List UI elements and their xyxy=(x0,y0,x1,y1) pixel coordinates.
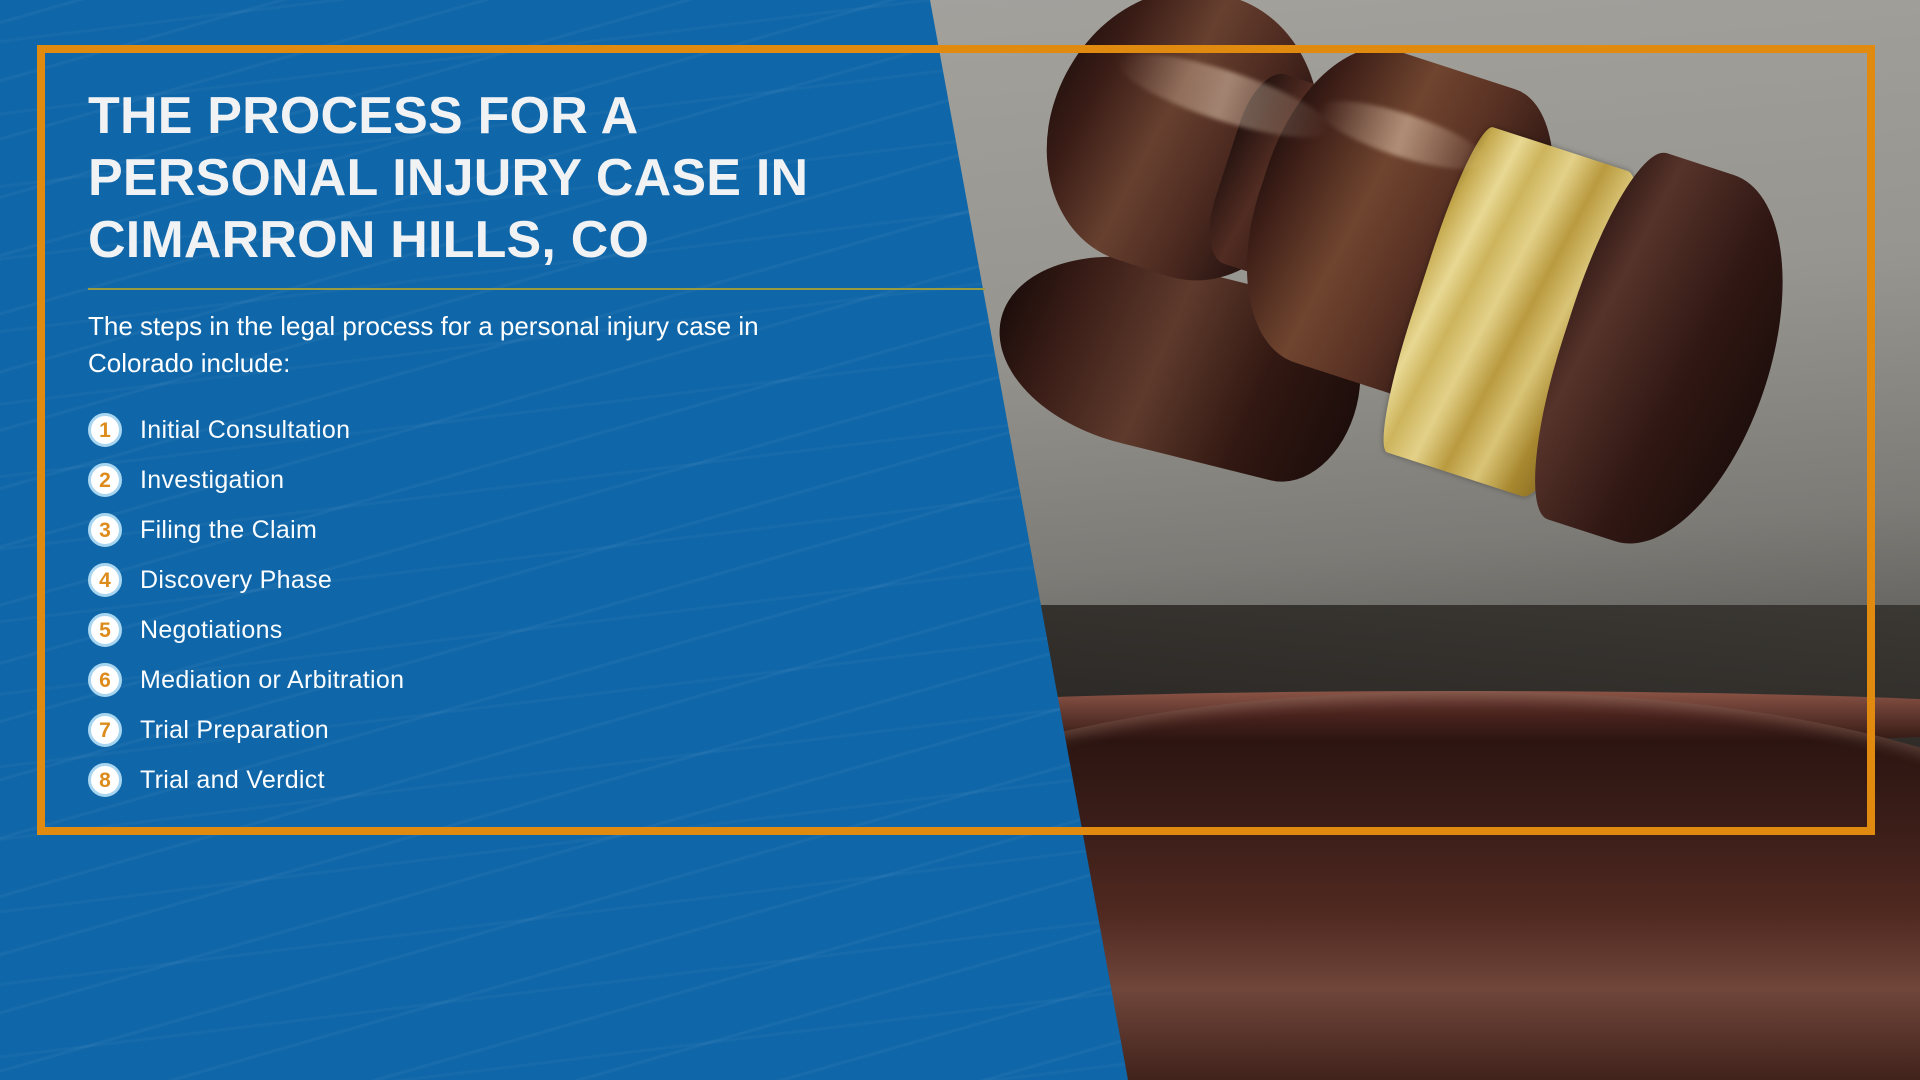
list-item: 2Investigation xyxy=(88,455,918,505)
step-label: Filing the Claim xyxy=(122,516,317,545)
step-number-badge: 1 xyxy=(88,413,122,447)
step-label: Discovery Phase xyxy=(122,566,332,595)
step-label: Trial and Verdict xyxy=(122,766,325,795)
step-number-badge: 3 xyxy=(88,513,122,547)
list-item: 7Trial Preparation xyxy=(88,705,918,755)
step-label: Trial Preparation xyxy=(122,716,329,745)
list-item: 3Filing the Claim xyxy=(88,505,918,555)
infographic-slide: THE PROCESS FOR A PERSONAL INJURY CASE I… xyxy=(0,0,1920,1080)
step-number-badge: 4 xyxy=(88,563,122,597)
list-item: 6Mediation or Arbitration xyxy=(88,655,918,705)
step-label: Mediation or Arbitration xyxy=(122,666,404,695)
step-label: Investigation xyxy=(122,466,284,495)
step-number-badge: 2 xyxy=(88,463,122,497)
step-number-badge: 8 xyxy=(88,763,122,797)
list-item: 5Negotiations xyxy=(88,605,918,655)
list-item: 4Discovery Phase xyxy=(88,555,918,605)
step-number-badge: 5 xyxy=(88,613,122,647)
step-label: Initial Consultation xyxy=(122,416,350,445)
steps-list: 1Initial Consultation2Investigation3Fili… xyxy=(88,405,918,805)
intro-subtitle: The steps in the legal process for a per… xyxy=(88,290,808,383)
list-item: 8Trial and Verdict xyxy=(88,755,918,805)
step-number-badge: 7 xyxy=(88,713,122,747)
list-item: 1Initial Consultation xyxy=(88,405,918,455)
page-title: THE PROCESS FOR A PERSONAL INJURY CASE I… xyxy=(88,86,918,272)
step-label: Negotiations xyxy=(122,616,283,645)
content-column: THE PROCESS FOR A PERSONAL INJURY CASE I… xyxy=(88,86,918,805)
step-number-badge: 6 xyxy=(88,663,122,697)
